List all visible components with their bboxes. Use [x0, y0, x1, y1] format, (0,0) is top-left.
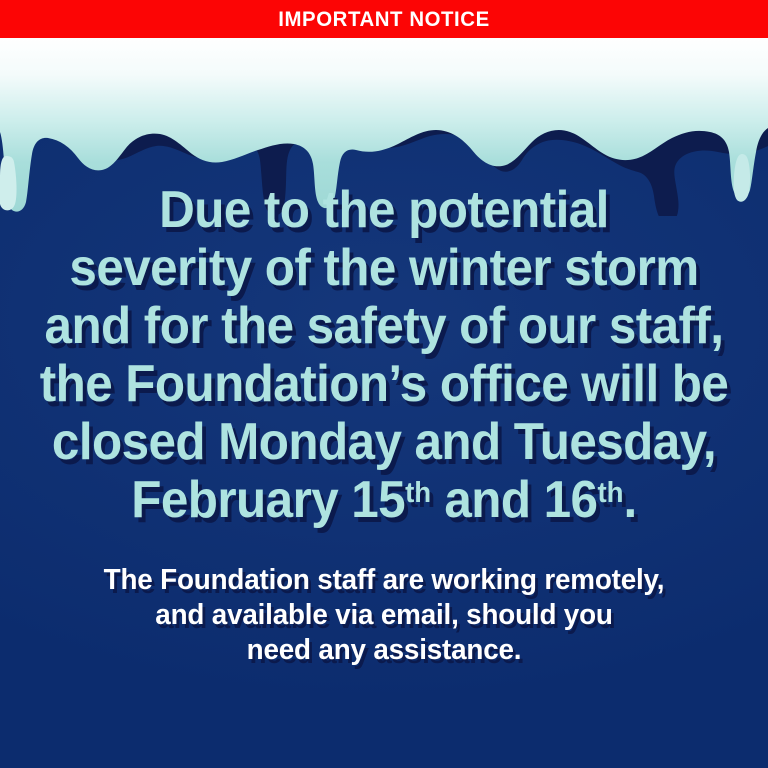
subtext-line-2: and available via email, should you: [15, 598, 752, 633]
banner-label: IMPORTANT NOTICE: [278, 9, 489, 30]
notice-content: Due to the potential severity of the win…: [0, 0, 768, 768]
date-prefix: February 15: [131, 471, 405, 529]
headline-date-line: February 15th and 16th.: [19, 471, 749, 537]
date-ordinal-second: th: [597, 477, 623, 509]
subtext-line-3: need any assistance.: [15, 633, 752, 668]
date-ordinal-first: th: [405, 477, 431, 509]
headline-line-1: Due to the potential: [19, 181, 749, 239]
important-notice-banner: IMPORTANT NOTICE: [0, 0, 768, 38]
date-middle: and 16: [431, 471, 597, 529]
headline-line-5: closed Monday and Tuesday,: [19, 413, 749, 471]
headline-block: Due to the potential severity of the win…: [0, 181, 768, 537]
subtext-block: The Foundation staff are working remotel…: [0, 563, 768, 668]
headline-line-4: the Foundation’s office will be: [19, 355, 749, 413]
headline-line-3: and for the safety of our staff,: [19, 297, 749, 355]
date-suffix: .: [624, 471, 637, 529]
headline-line-2: severity of the winter storm: [19, 239, 749, 297]
notice-poster: IMPORTANT NOTICE: [0, 0, 768, 768]
subtext-line-1: The Foundation staff are working remotel…: [15, 563, 752, 598]
